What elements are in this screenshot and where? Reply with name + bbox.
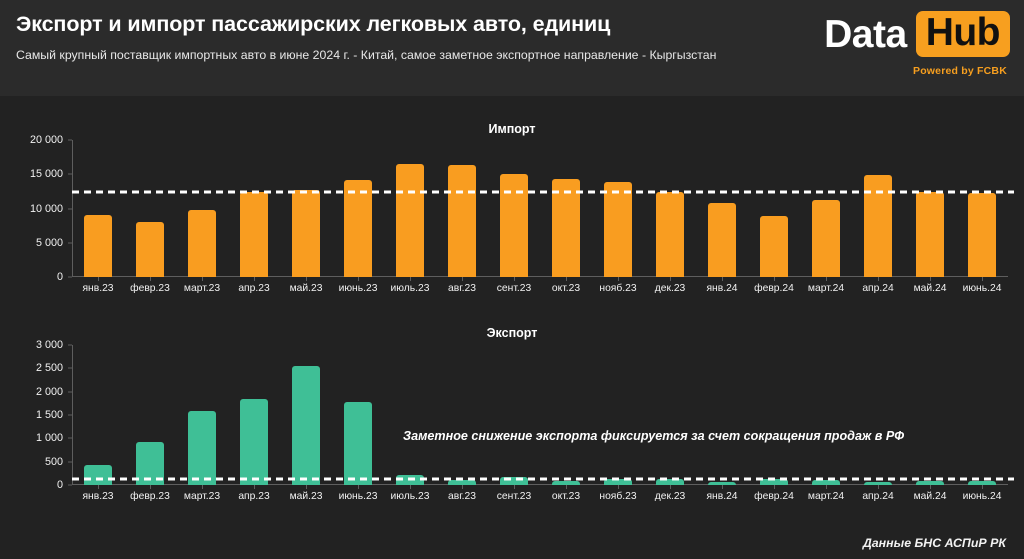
import-chart-title: Импорт xyxy=(0,122,1024,136)
import-bar[interactable] xyxy=(708,203,735,277)
export-ytick-mark xyxy=(68,461,72,462)
source-note: Данные БНС АСПиР РК xyxy=(863,536,1006,550)
export-xtick-mark xyxy=(410,485,411,489)
export-ytick-label: 1 000 xyxy=(36,432,72,444)
import-xtick-mark xyxy=(878,277,879,281)
export-xtick-mark xyxy=(774,485,775,489)
import-xtick-mark xyxy=(930,277,931,281)
import-y-axis xyxy=(72,140,73,277)
export-bar[interactable] xyxy=(240,399,267,485)
import-xtick-mark xyxy=(306,277,307,281)
export-bar[interactable] xyxy=(84,465,111,485)
export-bar[interactable] xyxy=(344,402,371,485)
logo-data-text: Data xyxy=(824,15,916,54)
import-xtick-mark xyxy=(98,277,99,281)
import-xtick-mark xyxy=(566,277,567,281)
export-ytick-label: 1 500 xyxy=(36,409,72,421)
export-xtick-mark xyxy=(566,485,567,489)
export-y-axis xyxy=(72,345,73,485)
export-xtick-mark xyxy=(982,485,983,489)
import-bar[interactable] xyxy=(916,192,943,277)
export-plot-area: 05001 0001 5002 0002 5003 000янв.23февр.… xyxy=(72,345,1008,485)
import-ytick-label: 15 000 xyxy=(30,168,72,180)
logo-hub-text: Hub xyxy=(926,11,1000,54)
import-xtick-mark xyxy=(150,277,151,281)
import-bar[interactable] xyxy=(240,192,267,277)
export-chart-title: Экспорт xyxy=(0,326,1024,340)
import-ytick-mark xyxy=(68,174,72,175)
import-xtick-mark xyxy=(358,277,359,281)
import-plot-area: 05 00010 00015 00020 000янв.23февр.23мар… xyxy=(72,140,1008,277)
import-ytick-label: 10 000 xyxy=(30,203,72,215)
import-bar[interactable] xyxy=(968,193,995,277)
export-xtick-mark xyxy=(618,485,619,489)
import-xtick-mark xyxy=(254,277,255,281)
import-bar[interactable] xyxy=(812,200,839,277)
import-xtick-mark xyxy=(774,277,775,281)
export-average-line xyxy=(72,477,1014,480)
import-ytick-mark xyxy=(68,277,72,278)
import-xtick-mark xyxy=(826,277,827,281)
import-ytick-mark xyxy=(68,140,72,141)
export-xtick-mark xyxy=(306,485,307,489)
import-ytick-mark xyxy=(68,242,72,243)
export-ytick-mark xyxy=(68,415,72,416)
import-xtick-mark xyxy=(514,277,515,281)
export-ytick-label: 2 000 xyxy=(36,386,72,398)
export-ytick-label: 2 500 xyxy=(36,362,72,374)
import-xtick-mark xyxy=(618,277,619,281)
import-ytick-label: 5 000 xyxy=(36,237,72,249)
logo-wordmark: Data Hub xyxy=(830,8,1010,60)
export-xtick-mark xyxy=(878,485,879,489)
import-bar[interactable] xyxy=(344,180,371,277)
datahub-logo: Data Hub Powered by FCBK xyxy=(830,8,1010,86)
export-xtick-mark xyxy=(358,485,359,489)
export-xtick-mark xyxy=(254,485,255,489)
export-xtick-mark xyxy=(722,485,723,489)
import-bar[interactable] xyxy=(396,164,423,277)
export-xtick-mark xyxy=(462,485,463,489)
export-ytick-mark xyxy=(68,391,72,392)
import-bar[interactable] xyxy=(604,182,631,277)
import-bar[interactable] xyxy=(84,215,111,277)
import-xtick-mark xyxy=(410,277,411,281)
export-xtick-mark xyxy=(930,485,931,489)
export-xtick-mark xyxy=(826,485,827,489)
import-xtick-mark xyxy=(670,277,671,281)
import-bar[interactable] xyxy=(656,192,683,277)
import-bar[interactable] xyxy=(760,216,787,277)
import-xtick-mark xyxy=(982,277,983,281)
export-xtick-mark xyxy=(514,485,515,489)
logo-hub-badge: Hub xyxy=(916,11,1010,57)
export-ytick-mark xyxy=(68,485,72,486)
export-bar[interactable] xyxy=(292,366,319,485)
import-ytick-label: 20 000 xyxy=(30,134,72,146)
logo-powered-by-text: Powered by FCBK xyxy=(830,60,1010,77)
export-ytick-mark xyxy=(68,438,72,439)
export-xtick-mark xyxy=(670,485,671,489)
import-bar[interactable] xyxy=(136,222,163,277)
export-ytick-label: 3 000 xyxy=(36,339,72,351)
export-annotation: Заметное снижение экспорта фиксируется з… xyxy=(403,429,904,443)
export-xtick-mark xyxy=(202,485,203,489)
import-xtick-mark xyxy=(202,277,203,281)
export-xtick-mark xyxy=(98,485,99,489)
import-xtick-mark xyxy=(462,277,463,281)
export-xtick-mark xyxy=(150,485,151,489)
import-bar[interactable] xyxy=(188,210,215,277)
export-ytick-mark xyxy=(68,368,72,369)
import-xtick-mark xyxy=(722,277,723,281)
export-ytick-mark xyxy=(68,345,72,346)
page-title: Экспорт и импорт пассажирских легковых а… xyxy=(16,12,610,37)
import-average-line xyxy=(72,191,1014,194)
page-subtitle: Самый крупный поставщик импортных авто в… xyxy=(16,48,716,62)
import-bar[interactable] xyxy=(292,190,319,277)
header-banner: Экспорт и импорт пассажирских легковых а… xyxy=(0,0,1024,96)
export-bar[interactable] xyxy=(188,411,215,485)
import-bar[interactable] xyxy=(448,165,475,277)
import-ytick-mark xyxy=(68,208,72,209)
